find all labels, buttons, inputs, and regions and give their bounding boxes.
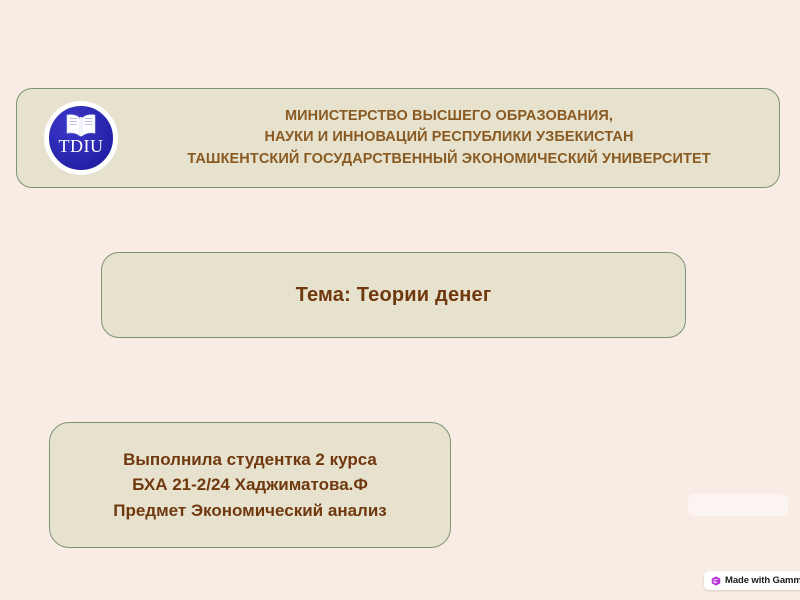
author-line-3: Предмет Экономический анализ <box>113 498 387 524</box>
gamma-badge-label: Made with Gamma <box>725 575 800 586</box>
author-line-1: Выполнила студентка 2 курса <box>113 447 387 473</box>
institution-header-card: TDIU МИНИСТЕРСТВО ВЫСШЕГО ОБРАЗОВАНИЯ, Н… <box>16 88 780 188</box>
tdiu-logo: TDIU <box>44 101 118 175</box>
header-line-3: ТАШКЕНТСКИЙ ГОСУДАРСТВЕННЫЙ ЭКОНОМИЧЕСКИ… <box>127 149 771 170</box>
author-info-text: Выполнила студентка 2 курса БХА 21-2/24 … <box>113 447 387 524</box>
header-line-2: НАУКИ И ИННОВАЦИЙ РЕСПУБЛИКИ УЗБЕКИСТАН <box>127 127 771 148</box>
made-with-gamma-badge[interactable]: Made with Gamma <box>704 571 800 590</box>
open-book-icon <box>61 113 101 137</box>
institution-header-text: МИНИСТЕРСТВО ВЫСШЕГО ОБРАЗОВАНИЯ, НАУКИ … <box>127 106 771 170</box>
author-line-2: БХА 21-2/24 Хаджиматова.Ф <box>113 472 387 498</box>
slide-title-card: Тема: Теории денег <box>101 252 686 338</box>
logo-abbreviation: TDIU <box>44 137 118 155</box>
header-line-1: МИНИСТЕРСТВО ВЫСШЕГО ОБРАЗОВАНИЯ, <box>127 106 771 127</box>
author-info-card: Выполнила студентка 2 курса БХА 21-2/24 … <box>49 422 451 548</box>
gamma-logo-icon <box>711 576 721 586</box>
page-title: Тема: Теории денег <box>296 284 492 307</box>
presentation-slide: TDIU МИНИСТЕРСТВО ВЫСШЕГО ОБРАЗОВАНИЯ, Н… <box>0 0 800 600</box>
render-artifact <box>688 494 788 516</box>
